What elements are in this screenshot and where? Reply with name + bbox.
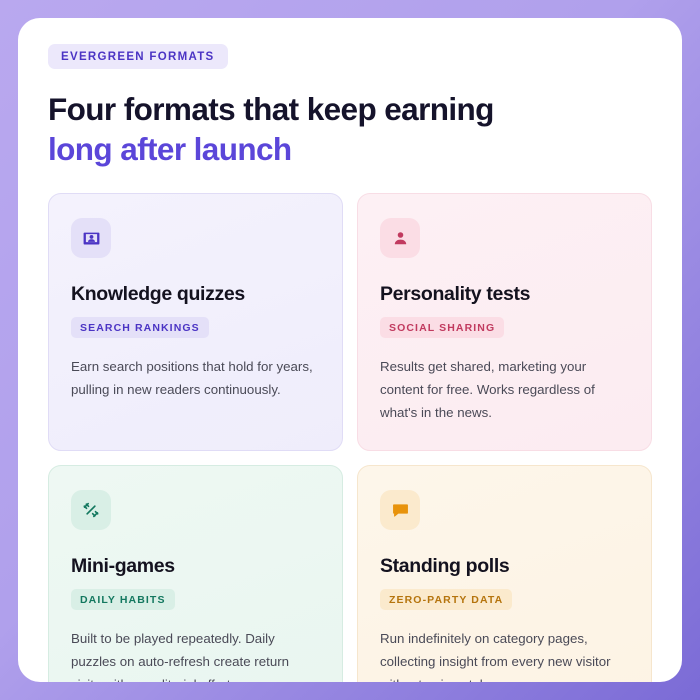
card-description: Built to be played repeatedly. Daily puz… [71, 627, 320, 682]
card-title: Mini-games [71, 555, 320, 578]
format-card-grid: Knowledge quizzes SEARCH RANKINGS Earn s… [48, 193, 652, 682]
icon-tile [71, 490, 111, 530]
dumbbell-icon [81, 500, 101, 520]
user-silhouette-icon [391, 229, 410, 248]
card-tag: SOCIAL SHARING [380, 317, 504, 338]
card-tag: DAILY HABITS [71, 589, 175, 610]
card-tag: ZERO-PARTY DATA [380, 589, 512, 610]
format-card-standing-polls[interactable]: Standing polls ZERO-PARTY DATA Run indef… [357, 465, 652, 682]
page-panel: EVERGREEN FORMATS Four formats that keep… [18, 18, 682, 682]
contact-card-icon [82, 229, 101, 248]
icon-tile [380, 490, 420, 530]
card-description: Run indefinitely on category pages, coll… [380, 627, 629, 682]
format-card-knowledge-quizzes[interactable]: Knowledge quizzes SEARCH RANKINGS Earn s… [48, 193, 343, 451]
format-card-personality-tests[interactable]: Personality tests SOCIAL SHARING Results… [357, 193, 652, 451]
card-description: Earn search positions that hold for year… [71, 355, 320, 401]
eyebrow-badge: EVERGREEN FORMATS [48, 44, 228, 69]
card-title: Personality tests [380, 283, 629, 306]
speech-bubble-icon [391, 501, 410, 520]
page-title: Four formats that keep earning long afte… [48, 90, 652, 169]
headline-line-1: Four formats that keep earning [48, 90, 652, 130]
headline-line-2: long after launch [48, 130, 652, 170]
icon-tile [71, 218, 111, 258]
card-title: Standing polls [380, 555, 629, 578]
card-description: Results get shared, marketing your conte… [380, 355, 629, 424]
card-tag: SEARCH RANKINGS [71, 317, 209, 338]
content-container: EVERGREEN FORMATS Four formats that keep… [18, 18, 682, 682]
icon-tile [380, 218, 420, 258]
card-title: Knowledge quizzes [71, 283, 320, 306]
format-card-mini-games[interactable]: Mini-games DAILY HABITS Built to be play… [48, 465, 343, 682]
